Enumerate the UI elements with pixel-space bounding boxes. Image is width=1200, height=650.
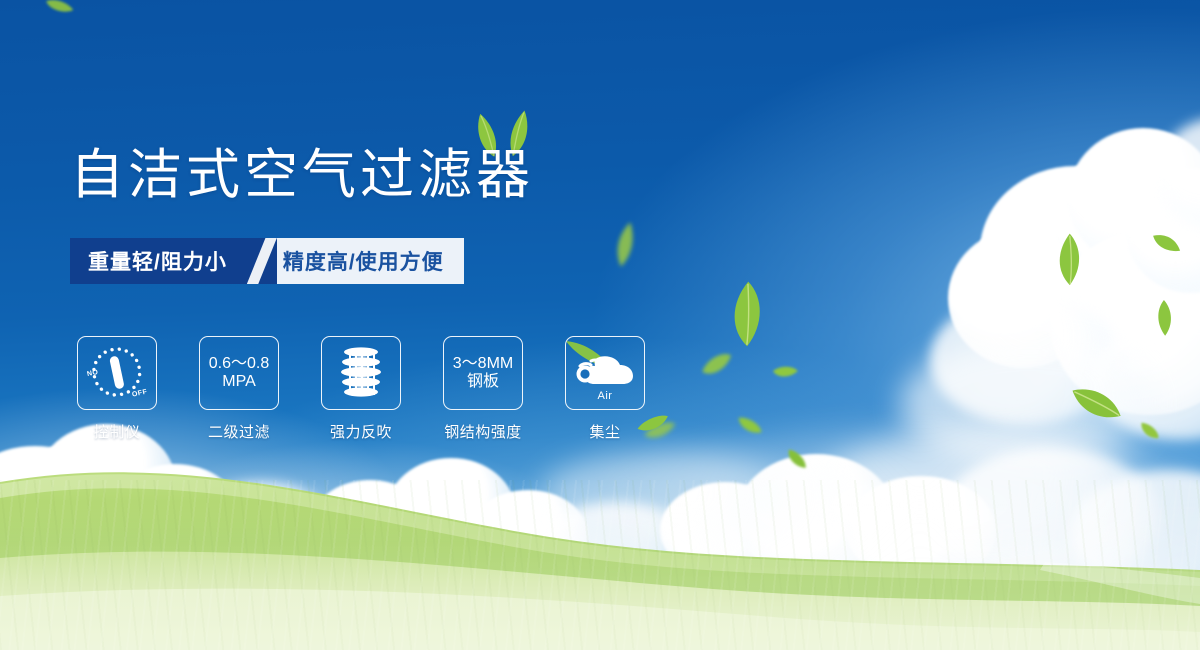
feature-caption: 集尘: [589, 421, 620, 442]
steel-plate-label: 钢板: [453, 373, 513, 391]
feature-icon-box: Air: [565, 336, 645, 410]
feature-icon-box: [321, 336, 401, 410]
feature-item-dust-collection[interactable]: Air 集尘: [558, 336, 652, 446]
feature-item-strong-backblow[interactable]: 强力反吹: [314, 336, 408, 446]
subtitle-bar: 重量轻/阻力小 精度高/使用方便: [70, 238, 464, 284]
feature-item-two-stage-filter[interactable]: 0.6～0.8 MPA 二级过滤: [192, 336, 286, 446]
steel-text-icon: 3～8MM 钢板: [453, 355, 513, 392]
feature-caption: 强力反吹: [330, 421, 392, 442]
pressure-text-icon: 0.6～0.8 MPA: [209, 355, 270, 392]
page-title: 自洁式空气过滤器: [70, 148, 534, 202]
feature-caption: 钢结构强度: [444, 421, 522, 442]
filter-cartridge-icon: [335, 345, 387, 401]
feature-list: NO OFF 控制仪 0.6～0.8 MPA 二级过滤: [70, 336, 690, 446]
pressure-range: 0.6～0.8: [209, 355, 270, 372]
product-banner: 自洁式空气过滤器 重量轻/阻力小 精度高/使用方便: [0, 0, 1200, 650]
feature-icon-box: NO OFF: [77, 336, 157, 410]
feature-caption: 二级过滤: [208, 421, 270, 442]
steel-thickness: 3～8MM: [453, 355, 513, 372]
cloud-air-icon: [575, 352, 635, 386]
feature-caption: 控制仪: [94, 421, 141, 442]
feature-item-steel-strength[interactable]: 3～8MM 钢板 钢结构强度: [436, 336, 530, 446]
feature-icon-box: 0.6～0.8 MPA: [199, 336, 279, 410]
feature-icon-box: 3～8MM 钢板: [443, 336, 523, 410]
subtitle-divider: [247, 238, 277, 284]
subtitle-right: 精度高/使用方便: [277, 238, 464, 284]
subtitle-left: 重量轻/阻力小: [70, 238, 247, 284]
banner-content: 自洁式空气过滤器 重量轻/阻力小 精度高/使用方便: [0, 0, 1200, 650]
feature-item-control-meter[interactable]: NO OFF 控制仪: [70, 336, 164, 446]
pressure-unit: MPA: [209, 373, 270, 391]
air-label: Air: [566, 390, 644, 402]
